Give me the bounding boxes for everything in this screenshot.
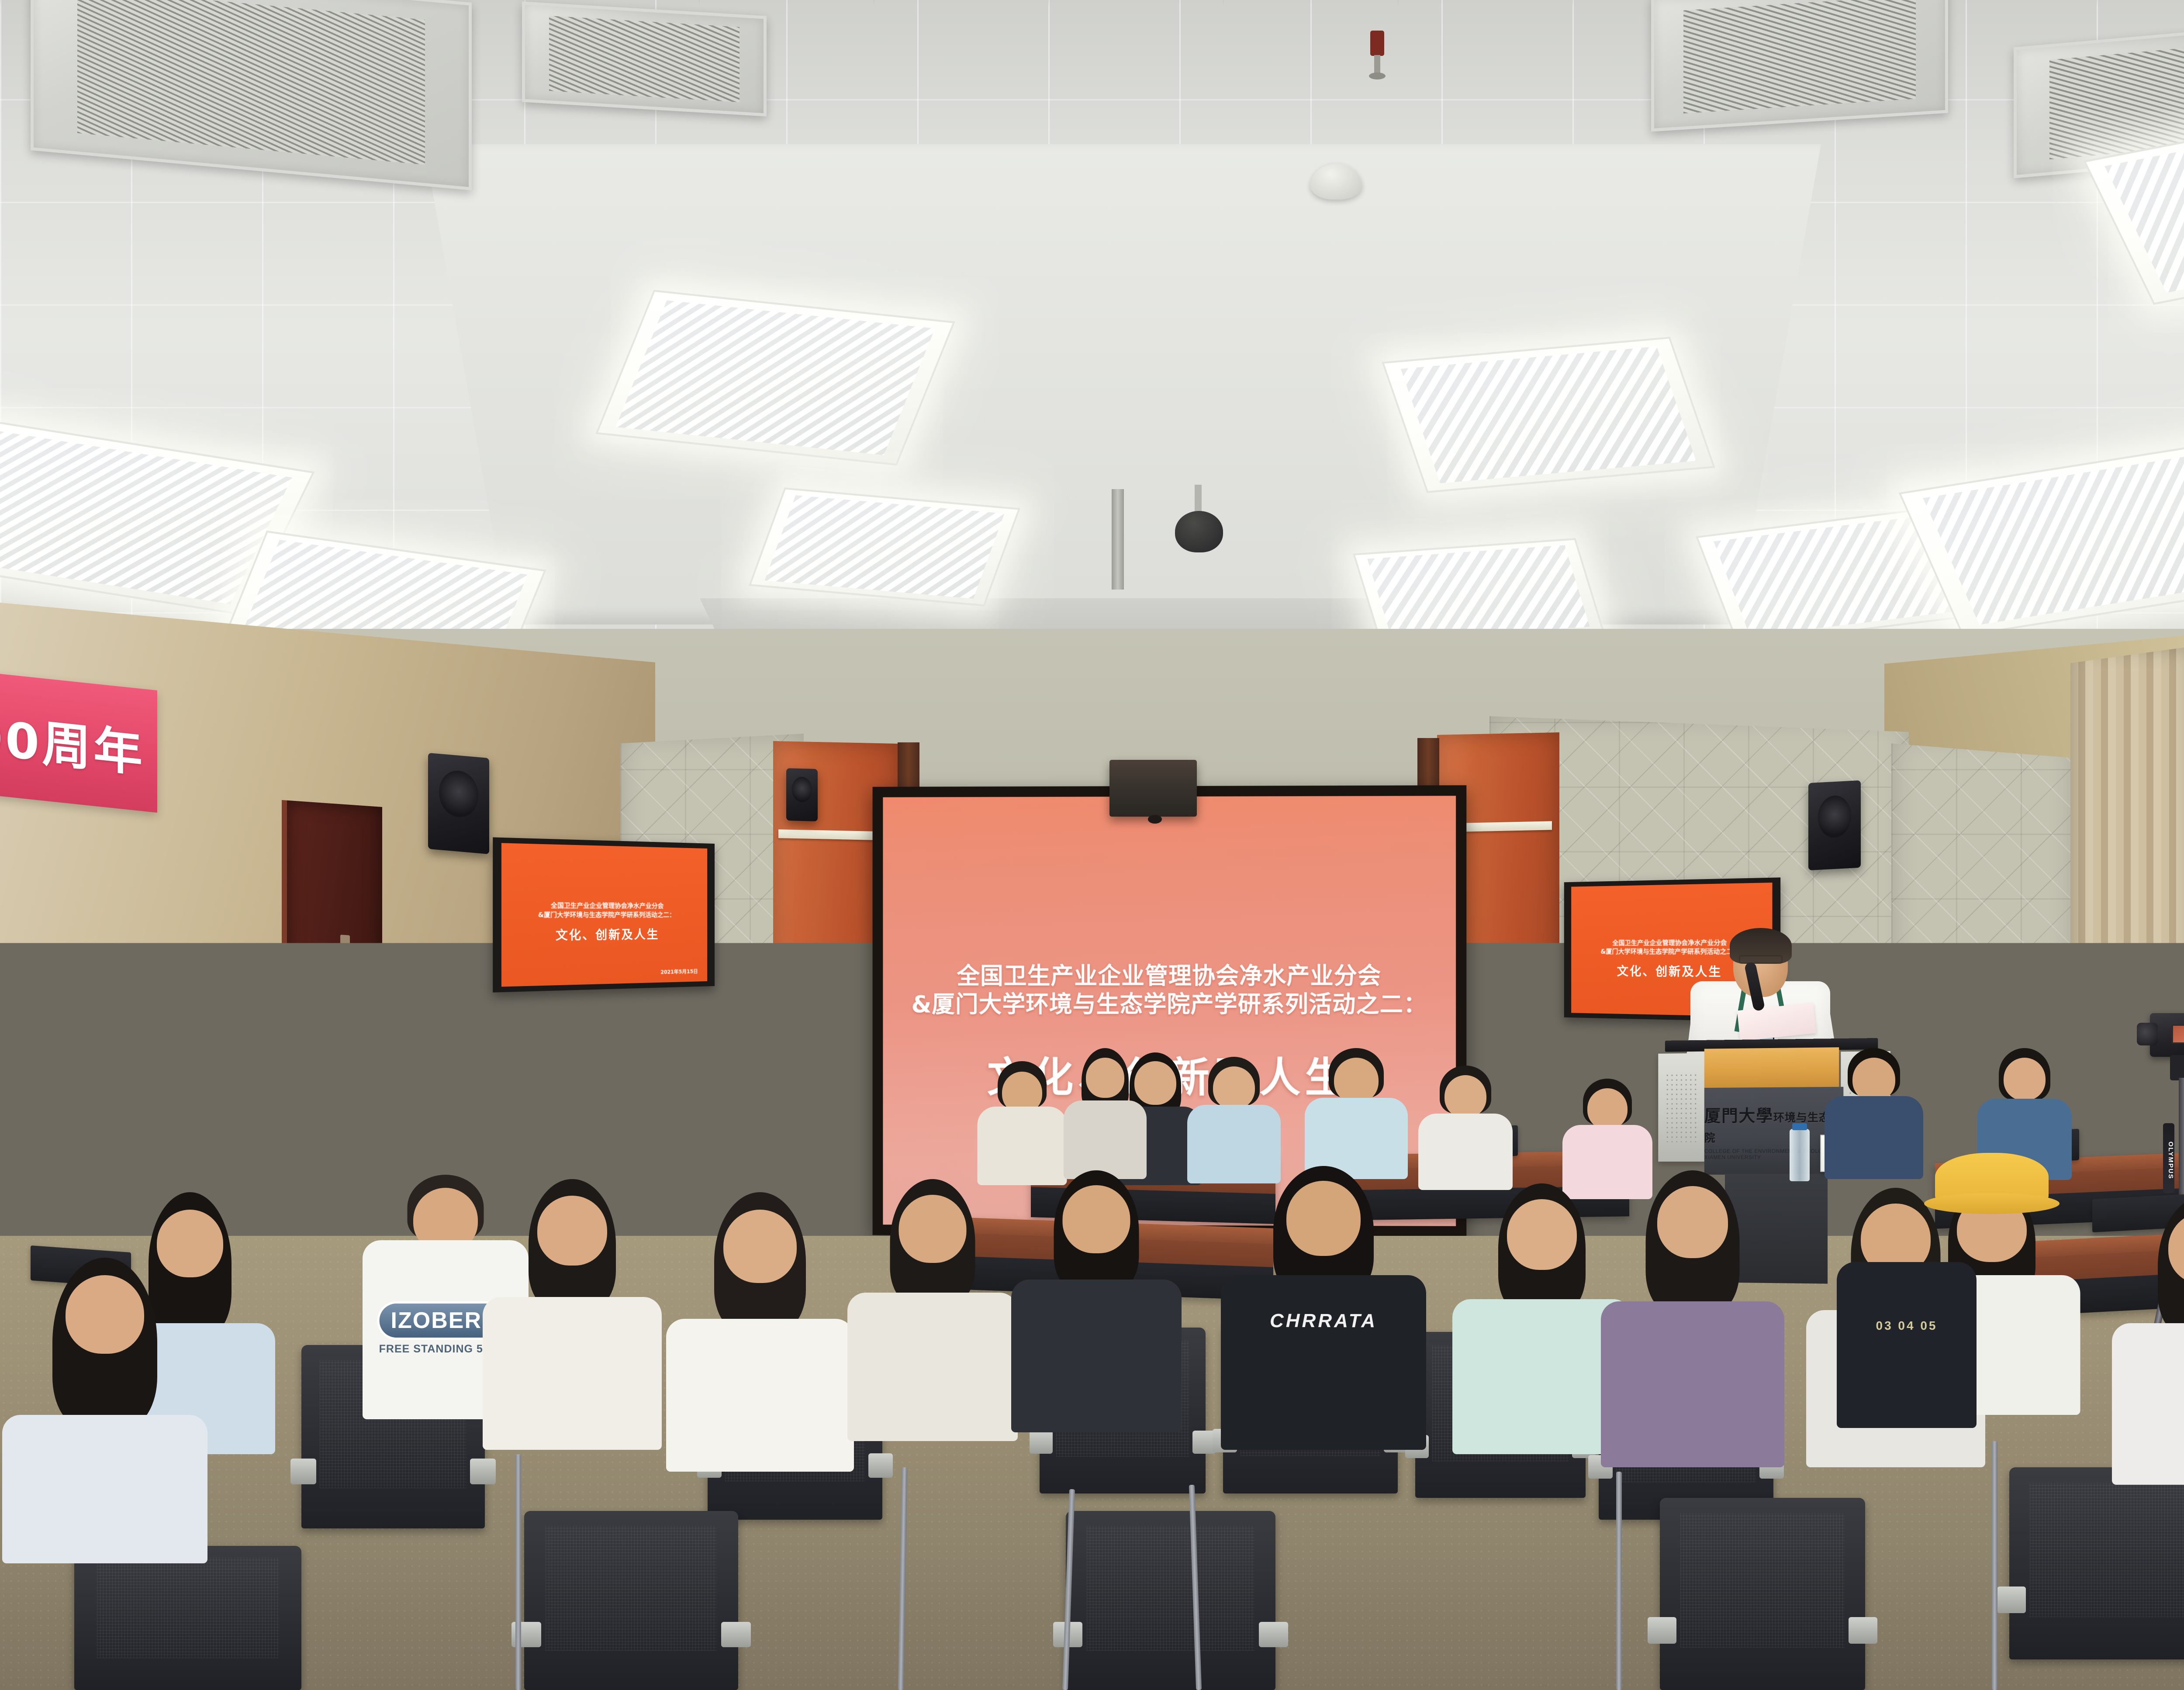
audience-person — [974, 1061, 1070, 1183]
person-head — [537, 1196, 607, 1266]
camera-lens-icon — [2137, 1023, 2158, 1045]
person-torso — [1221, 1275, 1426, 1450]
audience-person — [480, 1179, 664, 1450]
sprinkler-head — [1370, 31, 1384, 56]
sprinkler-stem — [1374, 55, 1380, 73]
chair-mesh-back — [1680, 1513, 1845, 1648]
fire-sprinkler-icon — [1367, 31, 1387, 96]
person-head — [1334, 1058, 1379, 1103]
ac-grille-icon — [2049, 37, 2184, 159]
audience-person — [664, 1192, 856, 1472]
person-head — [1213, 1066, 1255, 1109]
projector-lens-icon — [1148, 815, 1162, 824]
anniversary-banner-text: 00周年 — [0, 697, 145, 786]
light-lens — [764, 495, 1005, 599]
chair-leg — [515, 1454, 521, 1690]
person-head — [1286, 1181, 1361, 1256]
person-torso — [2, 1415, 207, 1563]
dome-camera-icon — [1175, 511, 1223, 552]
chair-leg — [1992, 1441, 1997, 1690]
monitor-main-title: 文化、创新及人生 — [556, 925, 659, 943]
audience-chair[interactable] — [74, 1546, 301, 1690]
presenter-glasses — [1739, 955, 1783, 964]
audience-person — [1415, 1066, 1516, 1188]
air-conditioner-unit — [522, 1, 767, 116]
light-lens — [616, 300, 935, 455]
person-head — [29, 1067, 71, 1111]
audience-chair[interactable] — [524, 1511, 738, 1690]
person-torso — [483, 1297, 662, 1450]
person-head — [1657, 1186, 1728, 1258]
audience-person — [1302, 1048, 1411, 1179]
door-handle[interactable] — [340, 935, 350, 962]
chair-armrest — [1192, 1431, 1216, 1454]
person-head — [1086, 1058, 1124, 1098]
audience-chair[interactable] — [1066, 1511, 1275, 1690]
slide-subtitle-line1: 全国卫生产业企业管理协会净水产业分会 — [900, 962, 1438, 991]
audience-person — [183, 1004, 275, 1131]
audience-person: CHRRATA — [1219, 1166, 1428, 1450]
person-torso — [1011, 1280, 1182, 1432]
person-head — [1444, 1075, 1486, 1118]
audience-person — [2110, 1197, 2184, 1485]
ceiling-light-panel — [1382, 337, 1715, 493]
person-head — [1852, 1058, 1895, 1101]
wall-speaker — [1808, 780, 1861, 870]
ceiling-light-panel — [595, 290, 955, 466]
monitor-subtitle-line1: 全国卫生产业企业管理协会净水产业分会 — [506, 901, 704, 910]
dslr-camera[interactable] — [2150, 1013, 2184, 1057]
audience-person — [1061, 1048, 1149, 1179]
person-torso — [1064, 1100, 1147, 1179]
audience-person — [0, 1057, 100, 1201]
person-head — [723, 1210, 797, 1283]
projector-mount — [1112, 489, 1124, 590]
audience-chair[interactable] — [2009, 1467, 2184, 1659]
audience-person: 03 04 05 — [1835, 1210, 1979, 1428]
tripod-brand-label: OLYMPUS — [2163, 1123, 2174, 1193]
chair-armrest — [1259, 1622, 1288, 1647]
slide-subtitle-line2: &厦门大学环境与生态学院产学研系列活动之二： — [900, 991, 1438, 1019]
audience-person — [0, 1258, 210, 1563]
chair-mesh-back — [97, 1557, 279, 1658]
podium-speaker-grille — [1665, 1073, 1700, 1142]
ceiling-projector — [1109, 760, 1197, 817]
person-torso — [3, 1110, 98, 1202]
speaker-cone-icon — [1818, 795, 1852, 838]
sprinkler-deflector — [1369, 72, 1386, 79]
podium-wood-surface — [1704, 1047, 1839, 1089]
chair-armrest — [470, 1459, 496, 1484]
person-torso — [1418, 1114, 1513, 1190]
audience-person — [1184, 1057, 1284, 1183]
chair-mesh-back — [1087, 1525, 1254, 1651]
chair-armrest — [868, 1453, 893, 1478]
person-head — [38, 1011, 80, 1054]
person-torso — [2112, 1323, 2184, 1485]
ac-grille-icon — [77, 0, 425, 165]
wall-speaker — [786, 768, 818, 821]
ceiling-light-panel — [749, 487, 1020, 606]
person-head — [1507, 1199, 1577, 1270]
person-torso — [186, 1052, 273, 1130]
audience-person — [845, 1179, 1020, 1441]
monitor-date: 2021年5月15日 — [660, 968, 698, 976]
person-torso — [1837, 1262, 1977, 1428]
chair-armrest — [1648, 1617, 1676, 1644]
person-torso — [847, 1293, 1018, 1441]
water-bottle[interactable] — [1790, 1129, 1810, 1181]
monitor-panel: 全国卫生产业企业管理协会净水产业分会 &厦门大学环境与生态学院产学研系列活动之二… — [501, 843, 707, 986]
person-torso — [1601, 1301, 1784, 1467]
audience-chair[interactable] — [1660, 1498, 1865, 1690]
ac-grille-icon — [549, 16, 740, 103]
bottle-cap — [1792, 1123, 1807, 1130]
person-head — [2004, 1058, 2046, 1100]
chair-armrest — [1030, 1431, 1053, 1454]
person-head — [210, 1015, 249, 1055]
chair-leg — [1616, 1472, 1622, 1690]
light-lens — [1368, 545, 1590, 641]
tshirt-graphic-label: CHRRATA — [1270, 1310, 1377, 1332]
chair-armrest — [290, 1459, 316, 1484]
chair-armrest — [1849, 1617, 1877, 1644]
audience-person — [1599, 1170, 1787, 1467]
wall-speaker — [428, 753, 489, 854]
chair-armrest — [721, 1622, 751, 1647]
lecture-hall-scene: 00周年 全国卫生产业企业管理协会净水产业分会 &厦门大学环境与生态学院产学研系… — [0, 0, 2184, 1690]
speaker-cone-icon — [439, 769, 478, 818]
tripod-head[interactable] — [2170, 1055, 2184, 1080]
person-head — [899, 1195, 967, 1263]
camera-lcd-screen — [2172, 1024, 2184, 1044]
person-head — [66, 1275, 144, 1354]
ac-grille-icon — [1683, 0, 1916, 114]
speaker-cone-icon — [792, 777, 812, 803]
person-head — [1587, 1088, 1628, 1129]
audience-person — [1009, 1170, 1184, 1432]
podium-speaker-left — [1658, 1053, 1706, 1162]
exit-door[interactable] — [282, 800, 382, 1169]
person-torso — [666, 1319, 854, 1472]
tshirt-number-list-label: 03 04 05 — [1876, 1319, 1938, 1333]
chair-mesh-back — [2030, 1483, 2184, 1617]
podium-institution-cn: 厦門大學 — [1704, 1106, 1773, 1125]
light-lens — [1400, 346, 1696, 483]
anniversary-banner: 00周年 — [0, 672, 157, 813]
person-head — [1063, 1185, 1130, 1253]
side-monitor-left: 全国卫生产业企业管理协会净水产业分会 &厦门大学环境与生态学院产学研系列活动之二… — [493, 837, 715, 992]
air-conditioner-unit — [1651, 0, 1948, 131]
chair-armrest — [1997, 1587, 2026, 1614]
chair-mesh-back — [546, 1525, 717, 1651]
monitor-subtitle-line2: &厦门大学环境与生态学院产学研系列活动之二： — [506, 911, 704, 919]
